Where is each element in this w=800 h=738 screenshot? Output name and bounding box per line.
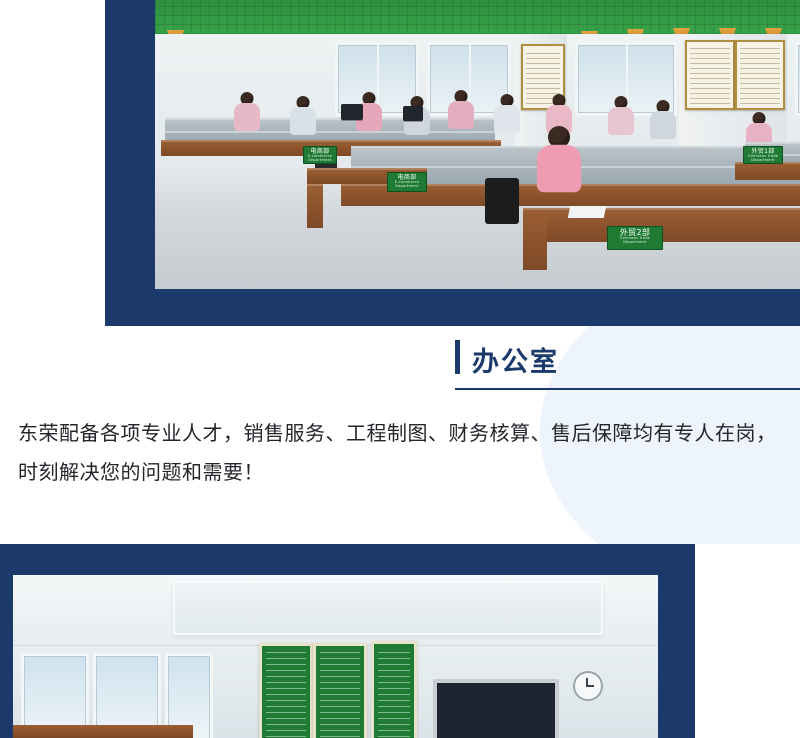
desktop-monitor (403, 106, 423, 121)
page-title: 办公室 (472, 349, 559, 376)
desk-surface (735, 162, 800, 180)
suspended-ceiling (13, 575, 658, 646)
green-notice-board (313, 643, 367, 738)
office-text-section: 办公室 东荣配备各项专业人才，销售服务、工程制图、财务核算、售后保障均有专人在岗… (0, 326, 800, 544)
ceiling-recess (173, 581, 603, 635)
wall-clock (573, 671, 603, 701)
sign-sublabel: E-commerce Department (388, 181, 426, 188)
heading-underline (455, 388, 800, 390)
wall-poster (735, 40, 785, 110)
heading-accent-bar (455, 340, 460, 374)
green-notice-board (259, 643, 313, 738)
desk-surface (13, 725, 193, 738)
wall-poster (685, 40, 735, 110)
page-root: 电商部 E-commerce Department 电商部 E-commerce… (0, 0, 800, 738)
office-photo-content: 电商部 E-commerce Department 电商部 E-commerce… (155, 0, 800, 289)
paper-document (568, 206, 607, 218)
display-screen (433, 679, 559, 738)
sign-sublabel: Overseas Trade Department (608, 237, 662, 244)
meeting-room-photo (13, 575, 658, 738)
green-notice-board (371, 641, 417, 738)
sign-sublabel: E-commerce Department (304, 155, 336, 162)
section-heading: 办公室 (455, 340, 559, 376)
sign-sublabel: Overseas Trade Department (744, 155, 782, 162)
desktop-monitor (341, 104, 363, 120)
office-chair (485, 178, 519, 224)
desk-surface (307, 184, 323, 228)
sign-overseas-trade-department-1: 外贸1部 Overseas Trade Department (743, 146, 783, 164)
sign-ecommerce-department: 电商部 E-commerce Department (303, 146, 337, 164)
sign-overseas-trade-department-2: 外贸2部 Overseas Trade Department (607, 226, 663, 250)
meeting-room-content (13, 575, 658, 738)
office-workspace-photo: 电商部 E-commerce Department 电商部 E-commerce… (155, 0, 800, 289)
section-paragraph: 东荣配备各项专业人才，销售服务、工程制图、财务核算、售后保障均有专人在岗，时刻解… (18, 414, 784, 492)
foreground-desk-side (523, 208, 547, 270)
window-pane (795, 42, 800, 116)
sign-ecommerce-department-2: 电商部 E-commerce Department (387, 172, 427, 192)
